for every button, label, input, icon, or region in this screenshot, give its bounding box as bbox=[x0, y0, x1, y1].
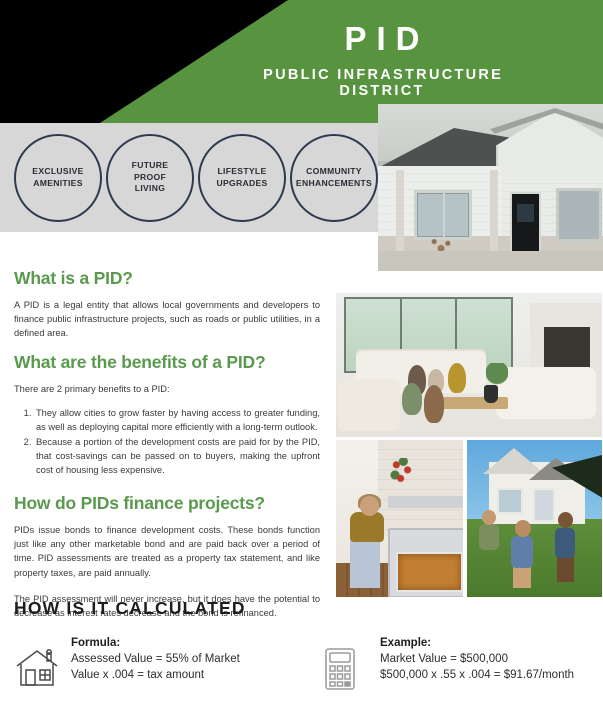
pid-infographic-page: PID PUBLIC INFRASTRUCTURE DISTRICT EXCLU… bbox=[0, 0, 603, 721]
example-line-1: Market Value = $500,000 bbox=[380, 651, 578, 667]
outdoor-house-window bbox=[497, 488, 523, 514]
child-figure bbox=[402, 383, 422, 415]
list-item: Because a portion of the development cos… bbox=[34, 435, 320, 477]
child-figure bbox=[511, 536, 533, 568]
example-line-2: $500,000 x .55 x .004 = $91.67/month bbox=[380, 667, 578, 683]
paragraph-finance-1: PIDs issue bonds to finance development … bbox=[14, 523, 320, 580]
heading-what-is-a-pid: What is a PID? bbox=[14, 268, 320, 289]
page-subtitle: PUBLIC INFRASTRUCTURE DISTRICT bbox=[217, 67, 547, 99]
child-legs bbox=[557, 556, 574, 582]
hero-ground bbox=[378, 251, 603, 271]
example-label: Example: bbox=[380, 637, 578, 649]
living-room-sofa-second bbox=[496, 367, 596, 419]
badge-exclusive-amenities[interactable]: EXCLUSIVE AMENITIES bbox=[14, 134, 102, 222]
living-room-vase bbox=[484, 385, 498, 403]
woman-legs bbox=[350, 540, 380, 588]
woman-head bbox=[360, 496, 379, 516]
badge-label: COMMUNITY ENHANCEMENTS bbox=[293, 166, 375, 189]
hero-window-right bbox=[556, 188, 602, 242]
child-head bbox=[515, 520, 531, 537]
living-room-photo bbox=[336, 293, 602, 437]
hero-porch-column bbox=[396, 170, 404, 258]
formula-body: Assessed Value = 55% of Market Value x .… bbox=[71, 651, 269, 684]
paragraph-benefits-intro: There are 2 primary benefits to a PID: bbox=[14, 382, 320, 396]
content-column: What is a PID? A PID is a legal entity t… bbox=[14, 268, 320, 632]
hero-porch-column bbox=[490, 170, 498, 258]
outdoor-house-door bbox=[533, 488, 555, 522]
badge-label: FUTURE PROOF LIVING bbox=[129, 160, 172, 195]
calculation-columns: Formula: Assessed Value = 55% of Market … bbox=[14, 637, 589, 696]
heading-how-is-it-calculated: HOW IS IT CALCULATED bbox=[14, 598, 246, 619]
living-room-armchair bbox=[338, 379, 400, 431]
page-title: PID bbox=[217, 22, 547, 57]
badge-lifestyle-upgrades[interactable]: LIFESTYLE UPGRADES bbox=[198, 134, 286, 222]
hero-house-photo bbox=[378, 104, 603, 271]
kitchen-range-oven bbox=[388, 528, 463, 597]
formula-text: Formula: Assessed Value = 55% of Market … bbox=[71, 637, 269, 696]
badge-label: EXCLUSIVE AMENITIES bbox=[29, 166, 86, 189]
badge-list: EXCLUSIVE AMENITIES FUTURE PROOF LIVING … bbox=[8, 123, 388, 232]
example-text: Example: Market Value = $500,000 $500,00… bbox=[380, 637, 578, 696]
paragraph-what-is-a-pid: A PID is a legal entity that allows loca… bbox=[14, 298, 320, 340]
child-figure bbox=[555, 528, 575, 558]
calculator-icon bbox=[323, 637, 369, 696]
formula-column: Formula: Assessed Value = 55% of Market … bbox=[14, 637, 269, 696]
hero-front-door bbox=[510, 192, 541, 258]
kitchen-flowers bbox=[388, 458, 416, 492]
house-icon bbox=[14, 637, 60, 696]
list-item: They allow cities to grow faster by havi… bbox=[34, 406, 320, 434]
children-outdoors-photo bbox=[467, 440, 602, 597]
heading-how-finance: How do PIDs finance projects? bbox=[14, 493, 320, 514]
child-figure bbox=[424, 385, 444, 423]
child-head bbox=[558, 512, 573, 528]
formula-label: Formula: bbox=[71, 637, 269, 649]
header-title-group: PID PUBLIC INFRASTRUCTURE DISTRICT bbox=[217, 22, 547, 99]
child-head bbox=[482, 510, 496, 525]
heading-benefits: What are the benefits of a PID? bbox=[14, 352, 320, 373]
badge-community-enhancements[interactable]: COMMUNITY ENHANCEMENTS bbox=[290, 134, 378, 222]
badge-label: LIFESTYLE UPGRADES bbox=[213, 166, 270, 189]
child-figure bbox=[479, 524, 499, 550]
example-column: Example: Market Value = $500,000 $500,00… bbox=[323, 637, 578, 696]
child-figure bbox=[448, 363, 466, 393]
living-room-plant bbox=[486, 363, 508, 387]
woman-torso bbox=[350, 512, 384, 542]
badge-future-proof-living[interactable]: FUTURE PROOF LIVING bbox=[106, 134, 194, 222]
kitchen-range-hood bbox=[388, 496, 463, 508]
kitchen-photo bbox=[336, 440, 463, 597]
benefits-list: They allow cities to grow faster by havi… bbox=[14, 406, 320, 478]
